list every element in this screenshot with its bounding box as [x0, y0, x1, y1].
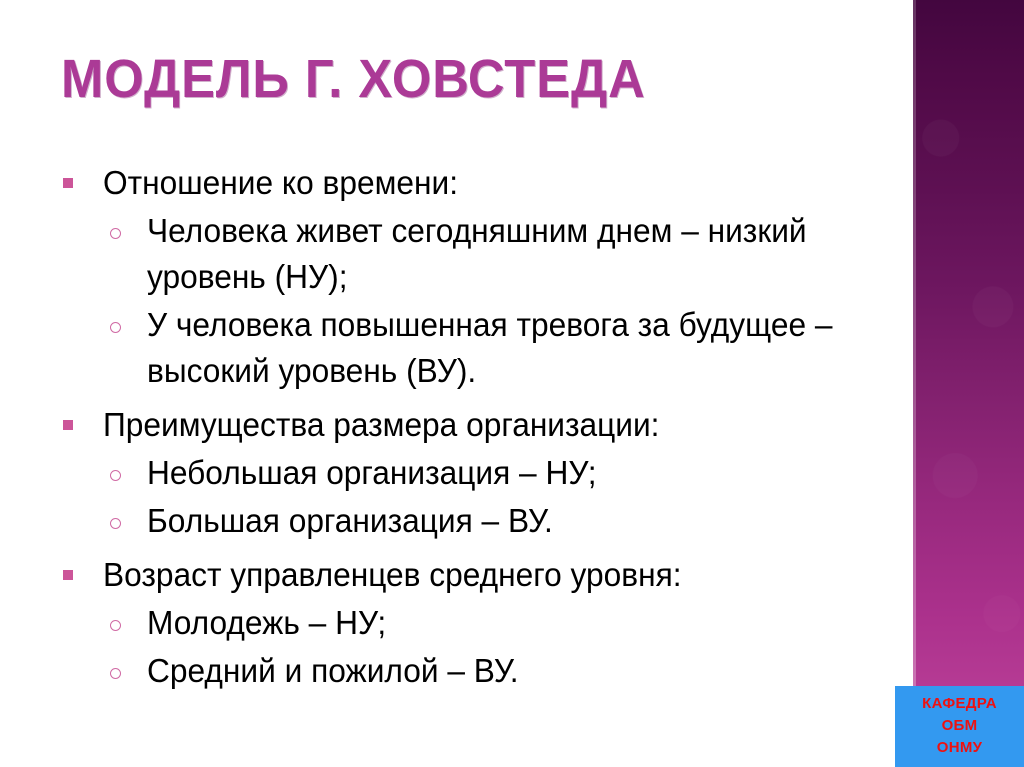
- gradient-bar-edge-highlight: [913, 0, 916, 767]
- bullet-item-level2: Большая организация – ВУ.: [0, 498, 900, 544]
- decorative-gradient-bar: [913, 0, 1024, 767]
- bullet-text: Большая организация – ВУ.: [147, 498, 870, 544]
- bullet-item-level1: Отношение ко времени:: [0, 160, 900, 206]
- bullet-text: Преимущества размера организации:: [103, 402, 868, 448]
- square-bullet-icon: [63, 570, 73, 580]
- circle-bullet-icon: [110, 668, 121, 679]
- bullet-item-level2: У человека повышенная тревога за будущее…: [0, 302, 900, 394]
- content-bullet-list: Отношение ко времени: Человека живет сег…: [0, 160, 900, 696]
- bullet-item-level1: Преимущества размера организации:: [0, 402, 900, 448]
- badge-line-3: ОНМУ: [895, 737, 1024, 759]
- circle-bullet-icon: [110, 228, 121, 239]
- gradient-texture-overlay: [913, 0, 1024, 767]
- bullet-item-level2: Небольшая организация – НУ;: [0, 450, 900, 496]
- circle-bullet-icon: [110, 470, 121, 481]
- slide-title: Модель Г. Ховстеда: [61, 49, 646, 109]
- bullet-item-level2: Молодежь – НУ;: [0, 600, 900, 646]
- square-bullet-icon: [63, 178, 73, 188]
- bullet-text: У человека повышенная тревога за будущее…: [147, 302, 870, 394]
- bullet-text: Небольшая организация – НУ;: [147, 450, 870, 496]
- presentation-slide: Модель Г. Ховстеда Отношение ко времени:…: [0, 0, 1024, 767]
- bullet-text: Возраст управленцев среднего уровня:: [103, 552, 868, 598]
- bullet-text: Молодежь – НУ;: [147, 600, 870, 646]
- department-badge: КАФЕДРА ОБМ ОНМУ: [895, 686, 1024, 767]
- circle-bullet-icon: [110, 322, 121, 333]
- circle-bullet-icon: [110, 518, 121, 529]
- bullet-item-level2: Средний и пожилой – ВУ.: [0, 648, 900, 694]
- bullet-text: Средний и пожилой – ВУ.: [147, 648, 870, 694]
- bullet-item-level2: Человека живет сегодняшним днем – низкий…: [0, 208, 900, 300]
- bullet-text: Человека живет сегодняшним днем – низкий…: [147, 208, 870, 300]
- bullet-text: Отношение ко времени:: [103, 160, 868, 206]
- circle-bullet-icon: [110, 620, 121, 631]
- bullet-item-level1: Возраст управленцев среднего уровня:: [0, 552, 900, 598]
- square-bullet-icon: [63, 420, 73, 430]
- badge-line-1: КАФЕДРА: [895, 693, 1024, 715]
- badge-line-2: ОБМ: [895, 715, 1024, 737]
